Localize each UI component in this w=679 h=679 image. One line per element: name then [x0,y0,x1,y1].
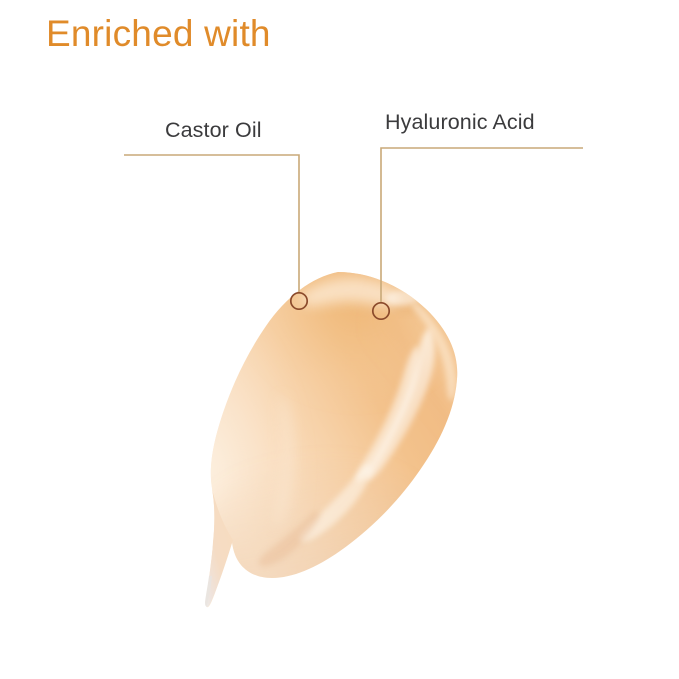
leader-line-hyaluronic-acid [381,148,583,303]
dollop-bottom-shade [198,460,438,620]
enriched-with-ingredient-infographic: Enriched with Castor Oil Hyaluronic Acid [0,0,679,679]
callout-leader-castor-oil [124,155,307,309]
cream-dollop-swatch [170,240,508,620]
infographic-artwork [0,0,679,679]
leader-line-castor-oil [124,155,299,293]
